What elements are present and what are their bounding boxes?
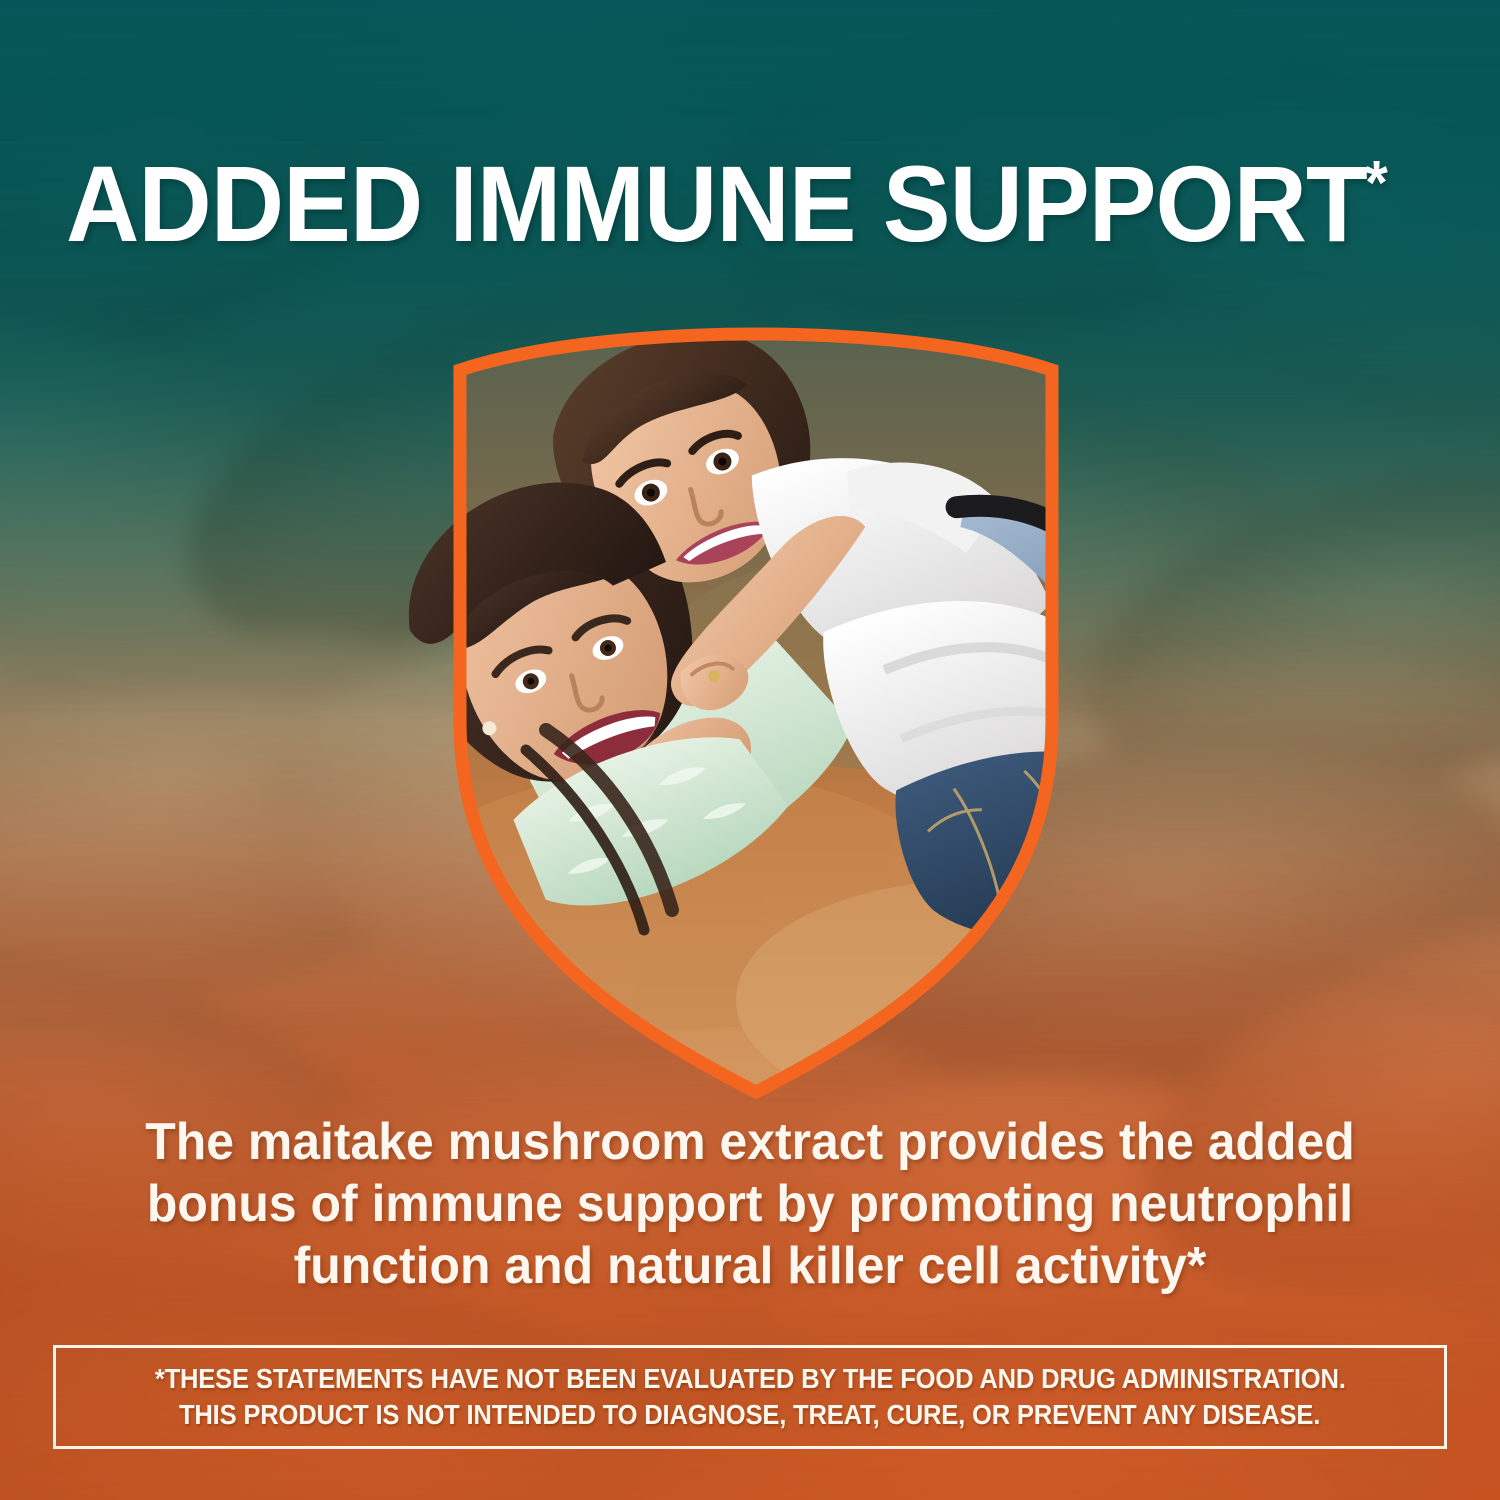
headline-text: ADDED IMMUNE SUPPORT: [66, 143, 1367, 264]
family-photo: [338, 215, 1223, 1120]
body-copy-line-1: The maitake mushroom extract provides th…: [116, 1112, 1383, 1174]
body-copy-line-2: bonus of immune support by promoting neu…: [116, 1174, 1383, 1236]
headline-asterisk: *: [1365, 149, 1387, 218]
immune-shield-badge: [376, 300, 1136, 1112]
page-title: ADDED IMMUNE SUPPORT*: [66, 150, 1373, 258]
promo-graphic: ADDED IMMUNE SUPPORT*: [0, 0, 1500, 1500]
disclaimer-line-2: THIS PRODUCT IS NOT INTENDED TO DIAGNOSE…: [179, 1397, 1320, 1433]
fda-disclaimer-box: *THESE STATEMENTS HAVE NOT BEEN EVALUATE…: [53, 1345, 1447, 1449]
body-copy: The maitake mushroom extract provides th…: [116, 1112, 1383, 1298]
body-copy-line-3: function and natural killer cell activit…: [116, 1236, 1383, 1298]
disclaimer-line-1: *THESE STATEMENTS HAVE NOT BEEN EVALUATE…: [155, 1361, 1346, 1397]
